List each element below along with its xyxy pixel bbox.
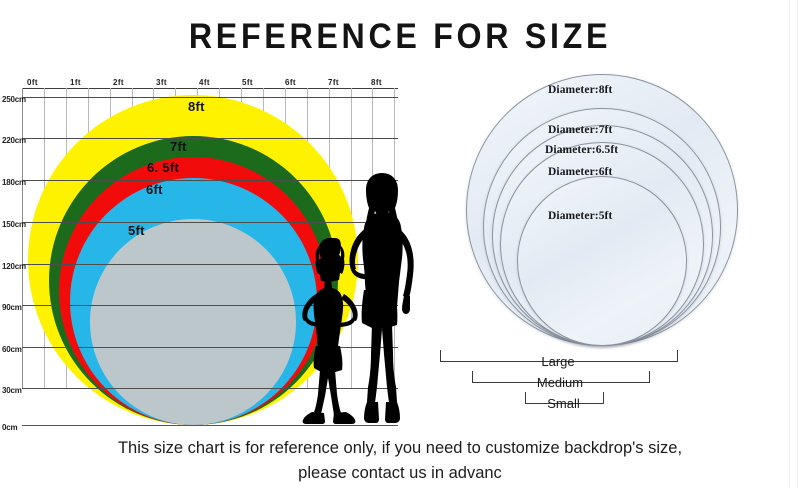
x-tick-7ft: 7ft xyxy=(328,78,339,87)
x-tick-2ft: 2ft xyxy=(113,78,124,87)
y-tick-120cm: 120cm xyxy=(2,262,26,271)
x-axis-line xyxy=(22,88,398,89)
footer-caption: This size chart is for reference only, i… xyxy=(0,436,800,486)
disc-label-6ft: Diameter:6ft xyxy=(548,166,612,178)
x-tick-6ft: 6ft xyxy=(285,78,296,87)
disc-label-5ft: Diameter:5ft xyxy=(548,210,612,222)
gridline-220cm xyxy=(22,138,398,139)
gridline-150cm xyxy=(22,222,398,223)
disc-label-7ft: Diameter:7ft xyxy=(548,124,612,136)
circle-label-8ft: 8ft xyxy=(188,99,205,114)
caption-line-1: This size chart is for reference only, i… xyxy=(0,436,800,461)
size-comparison-chart: 0ft 1ft 2ft 3ft 4ft 5ft 6ft 7ft 8ft xyxy=(0,70,415,435)
y-tick-0cm: 0cm xyxy=(2,423,17,432)
gridline-250cm xyxy=(22,97,398,98)
x-tick-8ft: 8ft xyxy=(371,78,382,87)
bracket-label-medium: Medium xyxy=(472,375,648,390)
circle-label-5ft: 5ft xyxy=(128,223,145,238)
disc-stack-diagram: Diameter:8ft Diameter:7ft Diameter:6.5ft… xyxy=(418,60,800,430)
y-tick-60cm: 60cm xyxy=(2,345,22,354)
y-tick-30cm: 30cm xyxy=(2,386,22,395)
disc-label-8ft: Diameter:8ft xyxy=(548,84,612,96)
circle-label-7ft: 7ft xyxy=(170,139,187,154)
edge-artifact xyxy=(789,0,790,488)
gridline-v xyxy=(22,88,23,388)
y-tick-90cm: 90cm xyxy=(2,303,22,312)
bracket-label-small: Small xyxy=(505,396,622,411)
x-tick-0ft: 0ft xyxy=(27,78,38,87)
edge-artifact xyxy=(797,0,798,488)
size-chart-canvas: REFERENCE FOR SIZE 0ft 1ft 2ft 3ft 4ft 5… xyxy=(0,0,800,488)
x-tick-1ft: 1ft xyxy=(70,78,81,87)
y-tick-220cm: 220cm xyxy=(2,136,26,145)
x-tick-3ft: 3ft xyxy=(156,78,167,87)
page-title: REFERENCE FOR SIZE xyxy=(32,17,768,57)
disc-label-6p5ft: Diameter:6.5ft xyxy=(545,144,618,156)
disc-5ft[interactable] xyxy=(517,176,687,346)
y-tick-180cm: 180cm xyxy=(2,178,26,187)
x-tick-5ft: 5ft xyxy=(242,78,253,87)
woman-silhouette xyxy=(348,172,416,428)
y-tick-150cm: 150cm xyxy=(2,220,26,229)
circle-label-6ft: 6ft xyxy=(146,182,163,197)
caption-line-2: please contact us in advanc xyxy=(0,461,800,486)
circle-label-6p5ft: 6. 5ft xyxy=(147,160,179,175)
x-tick-4ft: 4ft xyxy=(199,78,210,87)
y-tick-250cm: 250cm xyxy=(2,95,26,104)
bracket-label-large: Large xyxy=(440,354,676,369)
gridline-180cm xyxy=(22,180,398,181)
circle-5ft xyxy=(90,219,296,425)
